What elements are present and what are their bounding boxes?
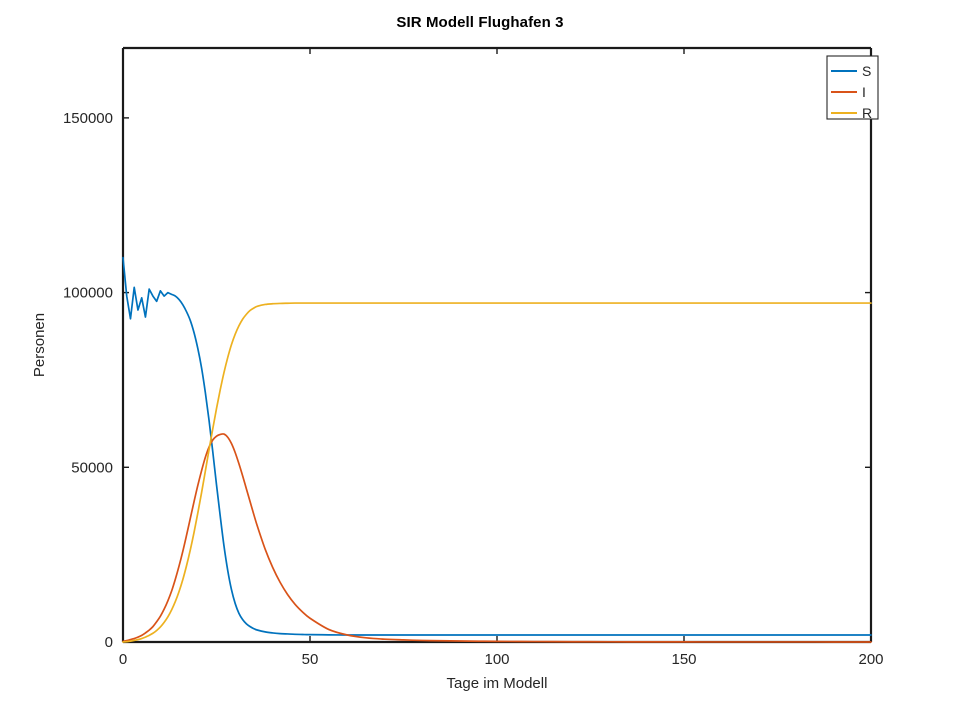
y-tick-label: 50000 bbox=[71, 459, 113, 476]
x-tick-label: 0 bbox=[119, 651, 127, 668]
y-tick-label: 150000 bbox=[63, 110, 113, 127]
sir-line-chart: 050100150200 050000100000150000 Tage im … bbox=[0, 0, 960, 720]
y-tick-labels: 050000100000150000 bbox=[63, 110, 113, 651]
legend[interactable]: SIR bbox=[827, 56, 878, 121]
legend-label-s[interactable]: S bbox=[862, 63, 871, 79]
x-tick-label: 200 bbox=[858, 651, 883, 668]
x-axis-label: Tage im Modell bbox=[447, 675, 548, 692]
x-tick-label: 50 bbox=[302, 651, 319, 668]
figure-canvas: SIR Modell Flughafen 3 050100150200 0500… bbox=[0, 0, 960, 720]
legend-label-r[interactable]: R bbox=[862, 105, 872, 121]
y-axis-label: Personen bbox=[31, 313, 48, 377]
series-line-r bbox=[123, 303, 871, 642]
series-line-s bbox=[123, 258, 871, 635]
y-tick-label: 100000 bbox=[63, 285, 113, 302]
x-tick-label: 150 bbox=[671, 651, 696, 668]
axes-frame bbox=[123, 48, 871, 642]
y-tick-label: 0 bbox=[105, 634, 113, 651]
data-series-group bbox=[123, 258, 871, 642]
x-tick-labels: 050100150200 bbox=[119, 651, 884, 668]
x-tick-label: 100 bbox=[484, 651, 509, 668]
legend-label-i[interactable]: I bbox=[862, 84, 866, 100]
series-line-i bbox=[123, 434, 871, 642]
tick-marks bbox=[123, 48, 871, 642]
